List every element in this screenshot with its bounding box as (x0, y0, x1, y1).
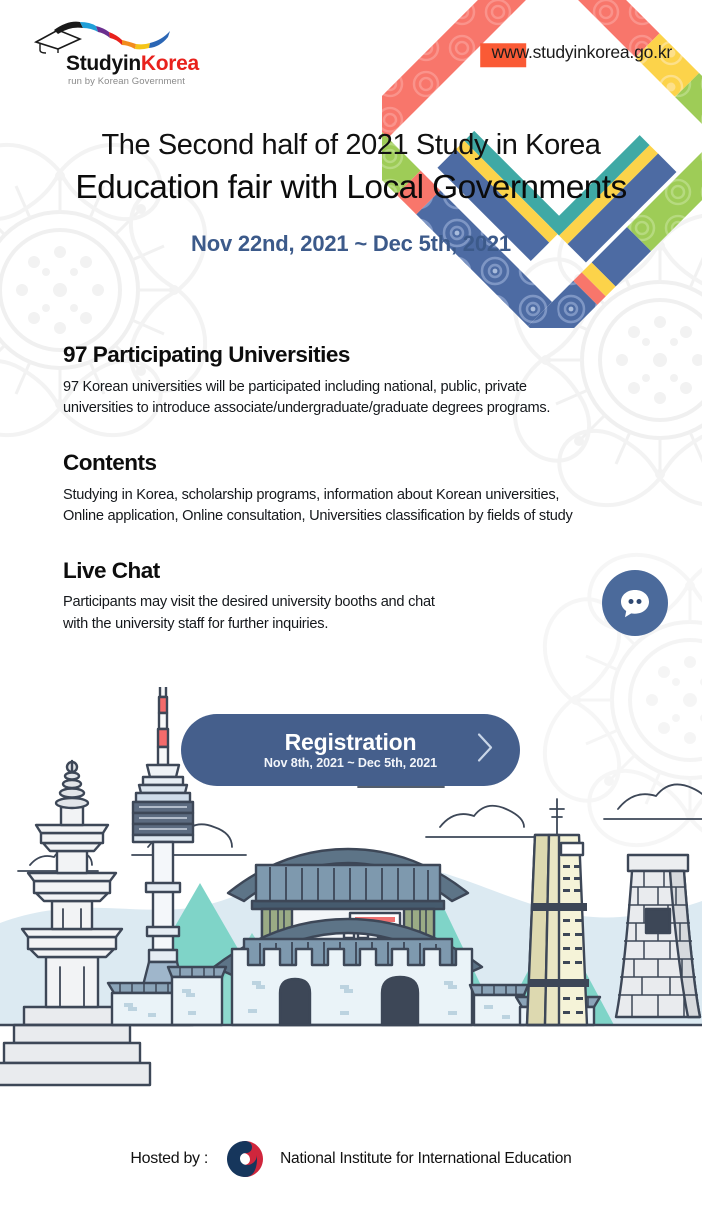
host-organization-name: National Institute for International Edu… (280, 1150, 572, 1168)
section-heading: Live Chat (63, 558, 683, 584)
logo-brand-primary: Studyin (66, 52, 141, 75)
section-body-line: Studying in Korea, scholarship programs,… (63, 485, 683, 506)
taegeuk-swirl-icon (224, 1138, 266, 1180)
registration-date-range: Nov 8th, 2021 ~ Dec 5th, 2021 (264, 756, 437, 770)
section-participating-universities: 97 Participating Universities 97 Korean … (63, 342, 683, 420)
poster-header: StudyinKorea run by Korean Government ww… (0, 0, 702, 110)
section-body-line: with the university staff for further in… (63, 614, 543, 635)
section-heading: 97 Participating Universities (63, 342, 683, 368)
section-body: 97 Korean universities will be participa… (63, 377, 683, 420)
title-line-1: The Second half of 2021 Study in Korea (0, 128, 702, 163)
section-body-line: 97 Korean universities will be participa… (63, 377, 683, 398)
chevron-right-icon (474, 731, 496, 770)
hosted-by-label: Hosted by : (130, 1150, 208, 1168)
poster-title-block: The Second half of 2021 Study in Korea E… (0, 128, 702, 257)
section-body-line: Participants may visit the desired unive… (63, 592, 543, 613)
section-body: Studying in Korea, scholarship programs,… (63, 485, 683, 528)
studyinkorea-logo[interactable]: StudyinKorea run by Korean Government (28, 24, 208, 84)
logo-wordmark: StudyinKorea (66, 52, 199, 76)
site-url[interactable]: www.studyinkorea.go.kr (492, 42, 672, 63)
section-contents: Contents Studying in Korea, scholarship … (63, 450, 683, 528)
section-body-line: universities to introduce associate/unde… (63, 398, 683, 419)
section-body: Participants may visit the desired unive… (63, 592, 543, 635)
section-body-line: Online application, Online consultation,… (63, 506, 683, 527)
registration-label: Registration (285, 730, 417, 754)
section-live-chat: Live Chat Participants may visit the des… (63, 558, 683, 636)
chat-bubble-icon[interactable] (602, 570, 668, 636)
logo-tagline: run by Korean Government (68, 76, 185, 87)
event-date-range: Nov 22nd, 2021 ~ Dec 5th, 2021 (0, 231, 702, 257)
poster-footer: Hosted by : National Institute for Inter… (0, 1133, 702, 1185)
registration-button[interactable]: Registration Nov 8th, 2021 ~ Dec 5th, 20… (181, 714, 520, 786)
section-heading: Contents (63, 450, 683, 476)
logo-brand-secondary: Korea (141, 52, 199, 75)
title-line-2: Education fair with Local Governments (0, 167, 702, 209)
graduation-cap-icon (28, 20, 178, 54)
content-sections: 97 Participating Universities 97 Korean … (63, 342, 683, 661)
